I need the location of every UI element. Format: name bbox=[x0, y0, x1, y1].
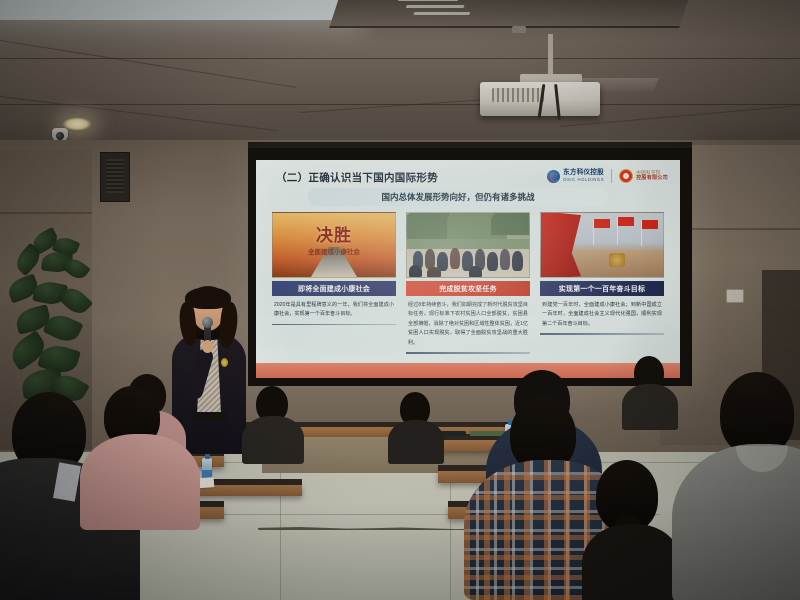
ceiling-light-panel bbox=[0, 0, 365, 20]
panel-1-body: 2020年是具有里程碑意义的一年，我们将全面建成小康社会，实现第一个百年奋斗目标… bbox=[272, 301, 396, 320]
presenter-belt bbox=[194, 412, 226, 420]
panel-2-caption: 完成脱贫攻坚任务 bbox=[406, 281, 530, 296]
osic-logo-icon bbox=[547, 170, 560, 183]
panel-3-caption: 实现第一个一百年奋斗目标 bbox=[540, 281, 664, 296]
panel-3-body: 到建党一百年时，全面建成小康社会；到新中国成立一百年时，全面建成社会主义现代化强… bbox=[540, 301, 664, 329]
poster-sub-text: 全面建成小康社会 bbox=[308, 246, 360, 256]
presenter-badge bbox=[221, 358, 228, 367]
slide-panel-1: 决胜 全面建成小康社会 即将全面建成小康社会 2020年是具有里程碑意义的一年，… bbox=[272, 212, 396, 325]
panel-1-image: 决胜 全面建成小康社会 bbox=[272, 212, 396, 278]
slide-panel-2: 完成脱贫攻坚任务 经过8年持续奋斗，我们如期完成了新时代脱贫攻坚目标任务，现行标… bbox=[406, 212, 530, 354]
slide-bottom-bar bbox=[256, 363, 680, 378]
slide-subtitle-banner: 国内总体发展形势向好，但仍有诸多挑战 bbox=[308, 188, 608, 206]
secondary-logo-icon bbox=[619, 169, 633, 183]
slide-logos: 东方科仪控股 OSIC HOLDINGS 中国科学院 控股有限公司 bbox=[547, 169, 668, 183]
panel-2-rule bbox=[406, 352, 530, 354]
ceiling-mount-hook bbox=[512, 26, 526, 33]
slide-subtitle: 国内总体发展形势向好，但仍有诸多挑战 bbox=[381, 191, 534, 203]
wall-seam bbox=[0, 212, 92, 214]
logo-osic-cn: 东方科仪控股 bbox=[563, 170, 604, 177]
ceiling-air-vent bbox=[329, 0, 691, 28]
presentation-room-photo: （二）正确认识当下国内国际形势 东方科仪控股 OSIC HOLDINGS 中国科… bbox=[0, 0, 800, 600]
slide-title: （二）正确认识当下国内国际形势 bbox=[276, 170, 438, 185]
logo-osic-en: OSIC HOLDINGS bbox=[563, 178, 604, 182]
slide-panel-3: 实现第一个一百年奋斗目标 到建党一百年时，全面建成小康社会；到新中国成立一百年时… bbox=[540, 212, 664, 335]
projection-screen: （二）正确认识当下国内国际形势 东方科仪控股 OSIC HOLDINGS 中国科… bbox=[256, 160, 680, 378]
panel-1-caption: 即将全面建成小康社会 bbox=[272, 281, 396, 296]
panel-1-rule bbox=[272, 324, 396, 326]
panel-2-image bbox=[406, 212, 530, 278]
panel-3-rule bbox=[540, 333, 664, 335]
power-outlet bbox=[726, 289, 744, 303]
poster-main-text: 决胜 bbox=[316, 221, 352, 246]
logo-osic: 东方科仪控股 OSIC HOLDINGS bbox=[547, 170, 604, 183]
logo-secondary: 中国科学院 控股有限公司 bbox=[619, 169, 668, 183]
logo-divider bbox=[611, 169, 612, 183]
logo-secondary-line2: 控股有限公司 bbox=[636, 176, 668, 181]
projector-vent bbox=[492, 88, 544, 102]
microphone-head bbox=[202, 317, 213, 328]
wall-speaker bbox=[100, 152, 130, 202]
panel-3-image bbox=[540, 212, 664, 278]
panel-2-body: 经过8年持续奋斗，我们如期完成了新时代脱贫攻坚目标任务，现行标准下农村贫困人口全… bbox=[406, 301, 530, 348]
presenter-hand bbox=[202, 340, 213, 353]
